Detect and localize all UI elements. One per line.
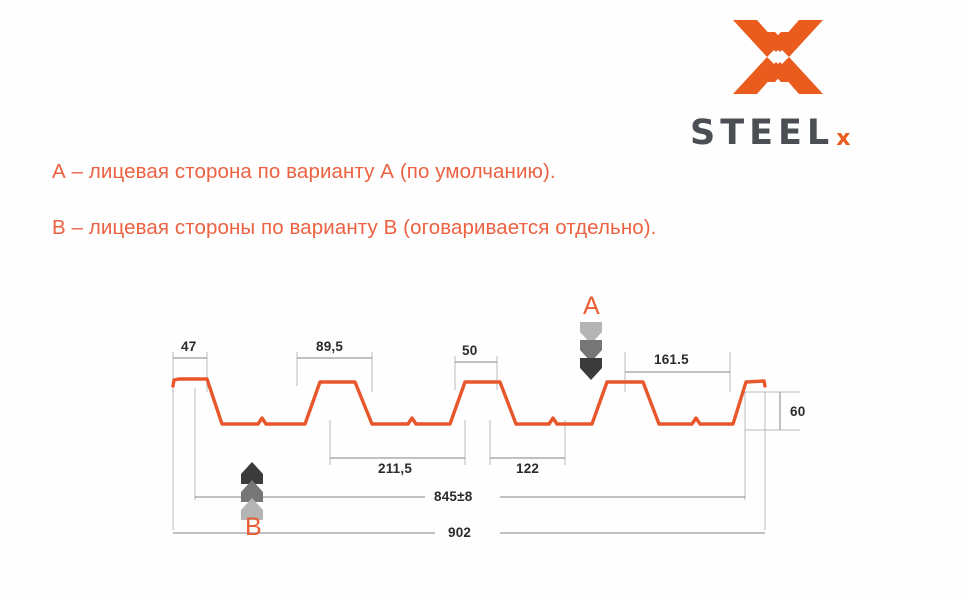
top-dimension-lines-group	[173, 358, 730, 372]
dim-label-47: 47	[181, 339, 196, 354]
dim-label-211-5: 211,5	[378, 461, 412, 476]
corrugated-profile-path	[173, 379, 765, 424]
dim-label-60: 60	[790, 404, 805, 419]
marker-a-label: A	[583, 292, 600, 321]
dim-label-89-5: 89,5	[316, 339, 343, 354]
marker-a-chevrons-icon	[580, 322, 602, 380]
extension-lines-group	[173, 352, 800, 530]
marker-b-label: B	[245, 513, 262, 542]
profile-technical-drawing	[0, 0, 970, 597]
dim-label-122: 122	[516, 461, 539, 476]
dim-label-50: 50	[462, 343, 477, 358]
dim-label-845: 845±8	[434, 489, 472, 504]
dim-label-161-5: 161.5	[654, 352, 689, 367]
marker-b-chevrons-icon	[241, 462, 263, 520]
dim-label-902: 902	[448, 525, 471, 540]
